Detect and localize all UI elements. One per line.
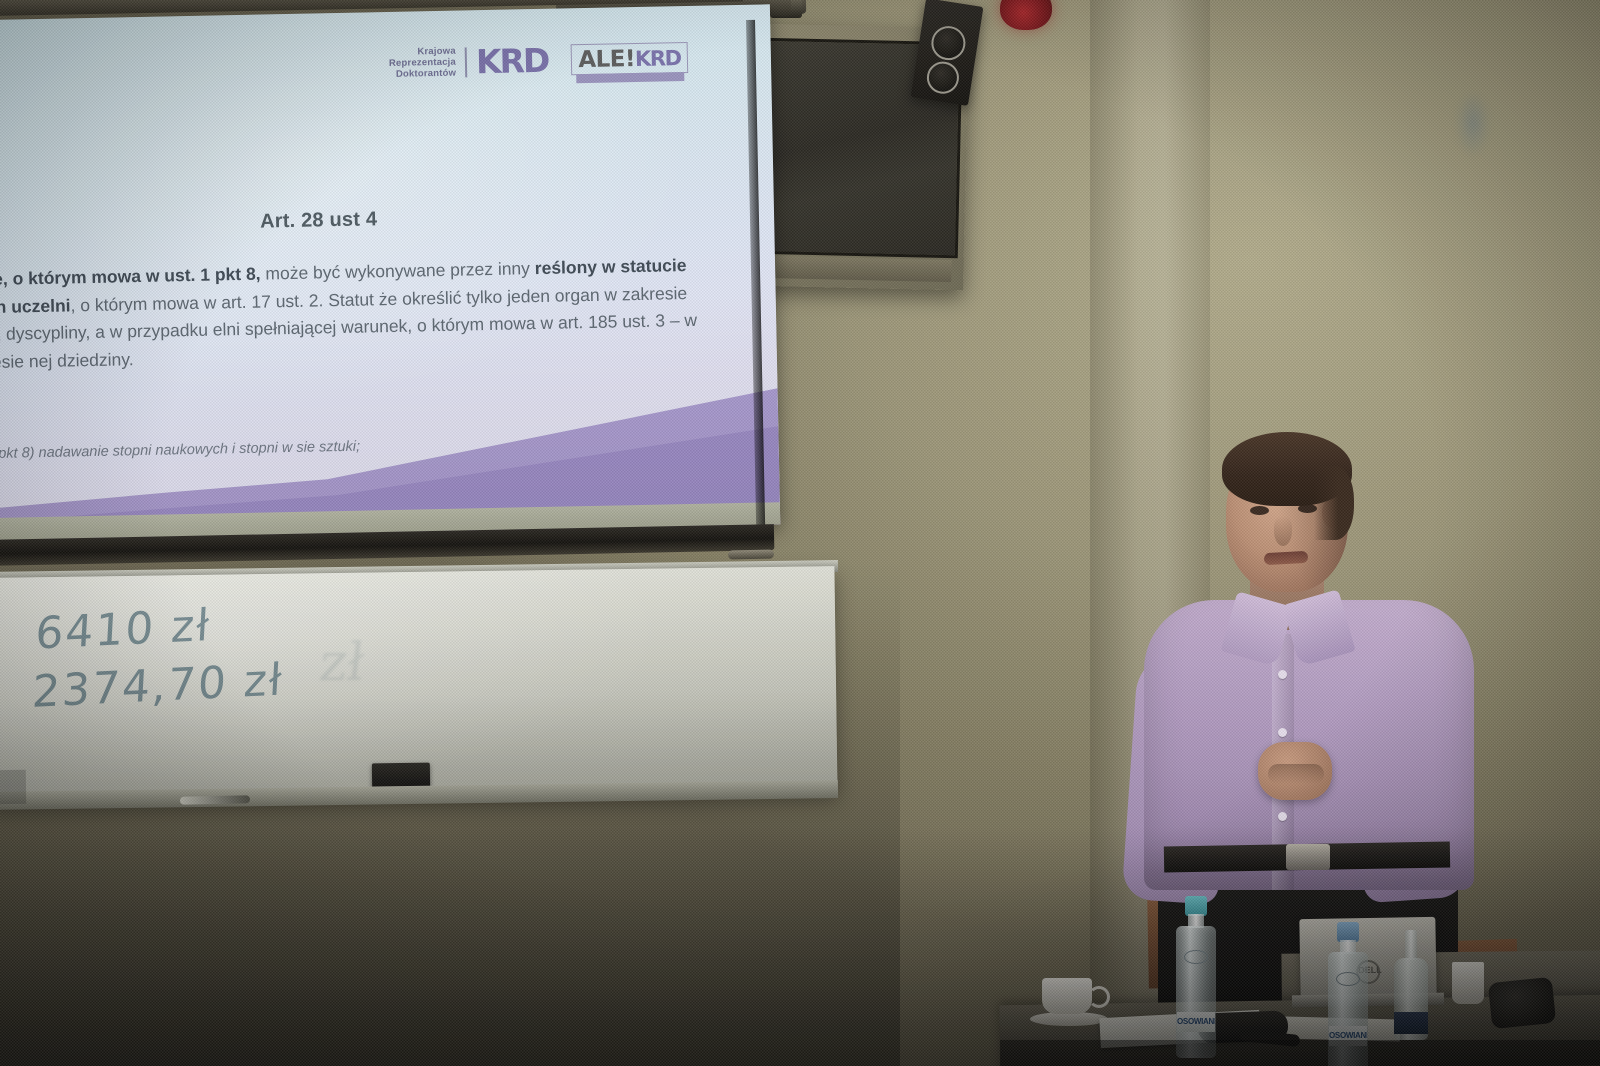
krd-org-name: Krajowa Reprezentacja Doktorantów (389, 46, 457, 80)
presenter-fingers (1268, 764, 1324, 784)
krd-logo: Krajowa Reprezentacja Doktorantów KRD AL… (389, 38, 688, 83)
slide-surface[interactable]: Krajowa Reprezentacja Doktorantów KRD AL… (0, 4, 780, 540)
ale-krd-mark: KRD (635, 46, 681, 71)
scene-root: Krajowa Reprezentacja Doktorantów KRD AL… (0, 0, 1600, 1066)
projection-screen: Krajowa Reprezentacja Doktorantów KRD AL… (0, 0, 778, 584)
ale-prefix: ALE! (578, 46, 635, 73)
slide-body-text: danie, o którym mowa w ust. 1 pkt 8, moż… (0, 251, 719, 376)
presenter-hair-side (1314, 466, 1354, 540)
presenter-shirt-button-3 (1278, 812, 1287, 821)
ale-krd-badge: ALE! KRD (571, 42, 688, 75)
wall-smudge (1455, 95, 1491, 157)
slide-article-heading: Art. 28 ust 4 (260, 208, 378, 233)
speaker-driver-bottom (925, 59, 962, 96)
screen-pull-handle[interactable] (728, 550, 774, 560)
presenter-shirt-button-2 (1278, 728, 1287, 737)
krd-org-line-3: Doktorantów (389, 68, 456, 80)
wall-display-bezel (761, 256, 951, 282)
presenter-shirt-button-1 (1278, 670, 1287, 679)
krd-logo-divider (465, 47, 468, 77)
krd-wordmark: KRD (476, 41, 549, 81)
floor-darkening (0, 826, 1600, 1066)
slide-content: Krajowa Reprezentacja Doktorantów KRD AL… (0, 4, 780, 540)
speaker-driver-top (929, 24, 968, 63)
